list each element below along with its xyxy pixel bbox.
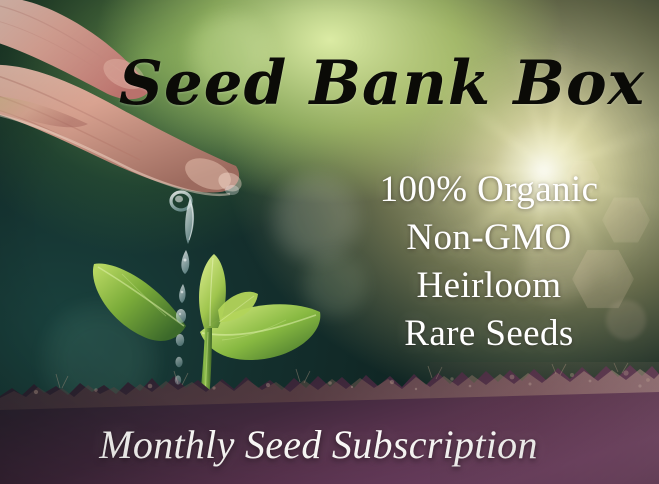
benefit-item-non-gmo: Non-GMO — [320, 214, 658, 262]
benefit-item-organic: 100% Organic — [320, 166, 658, 214]
benefit-item-rare-seeds: Rare Seeds — [320, 310, 658, 358]
poster-text: Seed Bank Box 100% Organic Non-GMO Heirl… — [0, 0, 659, 484]
benefits-list: 100% Organic Non-GMO Heirloom Rare Seeds — [320, 166, 658, 358]
benefit-item-heirloom: Heirloom — [320, 262, 658, 310]
subscription-tagline: Monthly Seed Subscription — [0, 421, 648, 468]
page-title: Seed Bank Box — [0, 48, 645, 119]
seed-bank-box-poster: Seed Bank Box 100% Organic Non-GMO Heirl… — [0, 0, 659, 484]
